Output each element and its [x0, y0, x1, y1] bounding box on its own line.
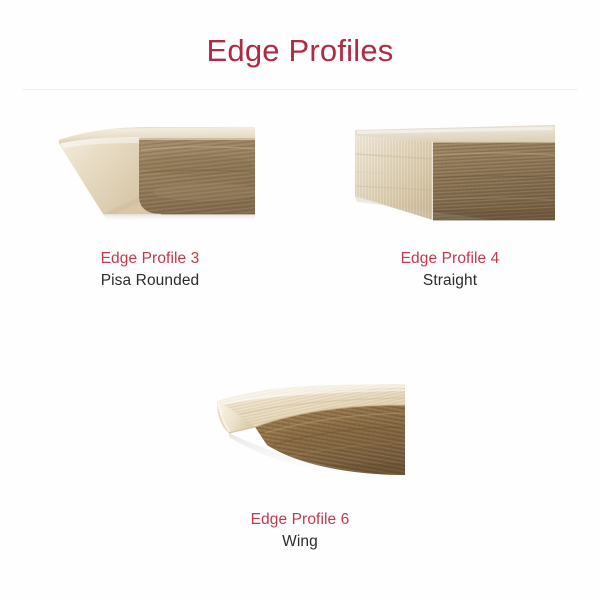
straight-wood-edge-photo — [345, 110, 555, 242]
profile-card-pisa-rounded[interactable]: Edge Profile 3 Pisa Rounded — [0, 110, 300, 293]
profiles-row: Edge Profile 3 Pisa Rounded — [0, 110, 600, 293]
edge-profiles-page: Edge Profiles — [0, 0, 600, 600]
profile-name: Pisa Rounded — [101, 270, 200, 292]
pisa-rounded-wood-edge-photo — [45, 110, 255, 242]
wing-wood-edge-photo — [195, 371, 405, 503]
page-title: Edge Profiles — [0, 32, 600, 69]
row-spacer — [0, 293, 600, 371]
profile-caption: Edge Profile 4 Straight — [401, 248, 500, 293]
profile-caption: Edge Profile 6 Wing — [251, 509, 350, 554]
profile-name: Straight — [401, 270, 500, 292]
profiles-row: Edge Profile 6 Wing — [0, 371, 600, 554]
profile-card-wing[interactable]: Edge Profile 6 Wing — [150, 371, 450, 554]
profile-code: Edge Profile 4 — [401, 248, 500, 270]
profile-caption: Edge Profile 3 Pisa Rounded — [101, 248, 200, 293]
profile-code: Edge Profile 3 — [101, 248, 200, 270]
profiles-grid: Edge Profile 3 Pisa Rounded — [0, 110, 600, 554]
header-divider — [22, 89, 578, 90]
profile-card-straight[interactable]: Edge Profile 4 Straight — [300, 110, 600, 293]
profile-code: Edge Profile 6 — [251, 509, 350, 531]
profile-name: Wing — [251, 531, 350, 553]
